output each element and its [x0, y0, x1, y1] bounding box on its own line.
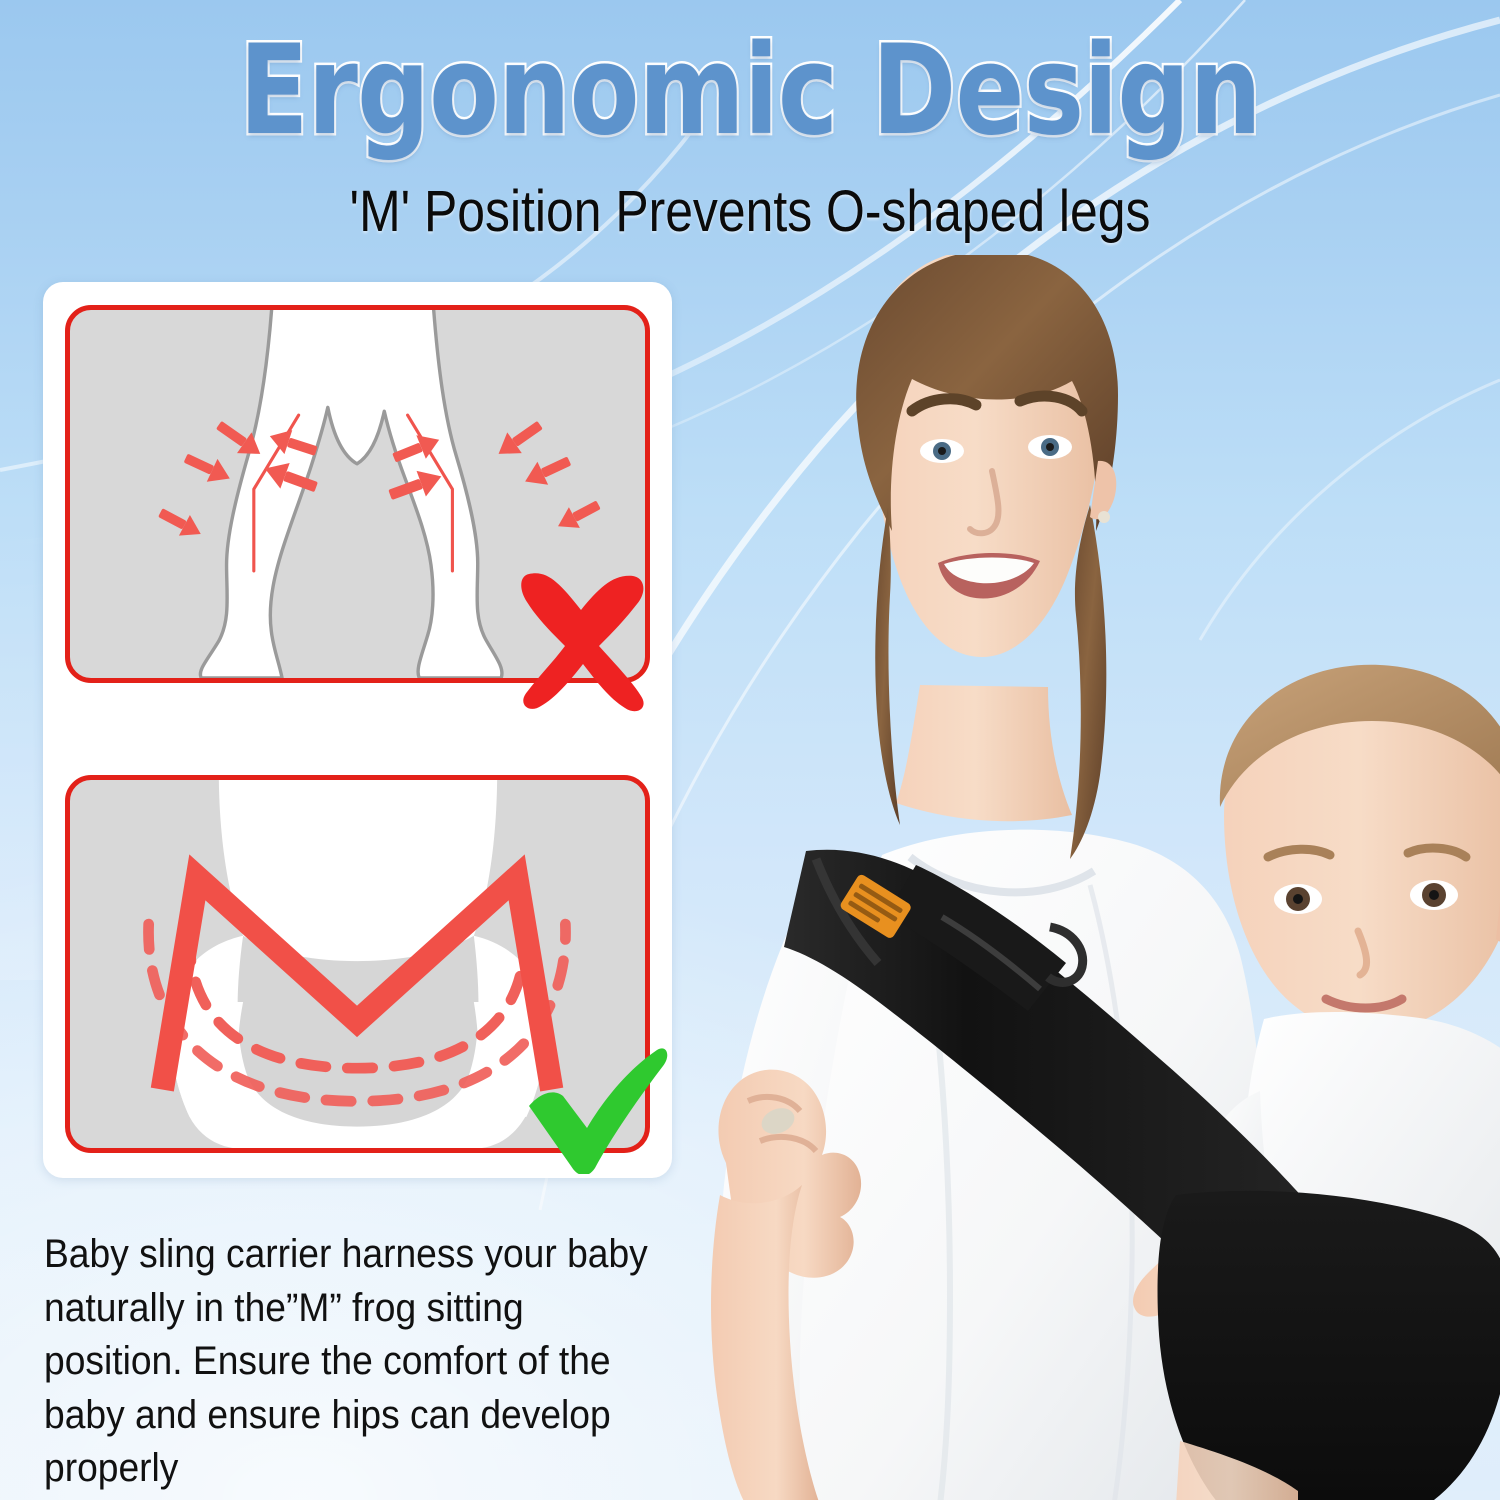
o-shaped-legs-panel [65, 305, 650, 683]
page-subtitle: 'M' Position Prevents O-shaped legs [105, 178, 1395, 245]
product-description: Baby sling carrier harness your baby nat… [44, 1228, 658, 1496]
woman-neck [896, 685, 1072, 821]
earring [1098, 511, 1110, 523]
comparison-card [43, 282, 672, 1178]
poster-root: Ergonomic Design 'M' Position Prevents O… [0, 0, 1500, 1500]
title-block: Ergonomic Design [0, 28, 1500, 154]
m-position-panel [65, 775, 650, 1153]
woman-hair-side [1070, 505, 1106, 859]
page-title: Ergonomic Design [239, 28, 1261, 154]
mother-carrying-baby-in-sling [620, 255, 1500, 1500]
